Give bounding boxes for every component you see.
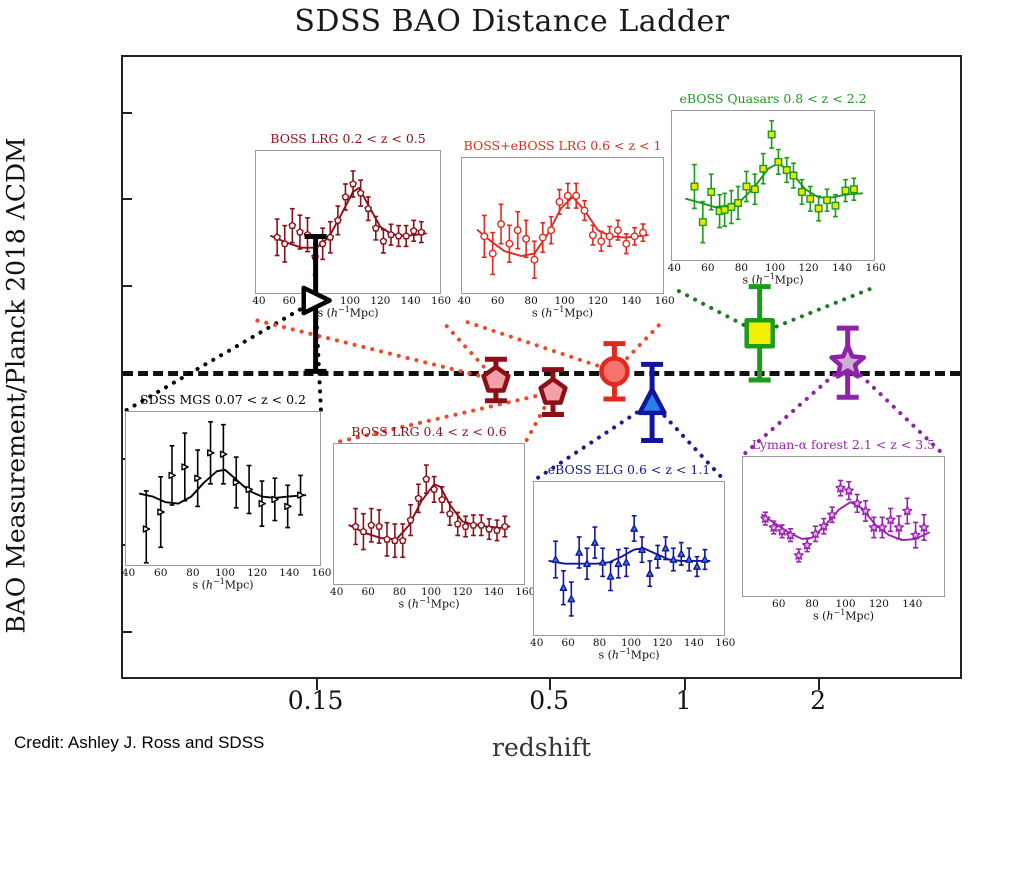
marker-triangle-up	[640, 389, 665, 412]
data-point-group	[747, 287, 773, 380]
marker-pentagon	[484, 367, 509, 391]
data-point-group	[484, 359, 509, 400]
data-point-group	[601, 344, 627, 399]
data-point-group	[640, 364, 665, 440]
data-point-group	[832, 328, 864, 397]
main-data-points	[0, 0, 1024, 768]
marker-square	[747, 320, 773, 346]
data-point-group	[304, 236, 330, 371]
credit-text: Credit: Ashley J. Ross and SDSS	[14, 733, 264, 753]
marker-star	[832, 346, 864, 377]
marker-pentagon	[541, 379, 566, 403]
marker-circle	[601, 358, 627, 384]
figure-root: SDSS BAO Distance Ladder BAO Measurement…	[0, 0, 1024, 768]
data-point-group	[541, 370, 566, 415]
